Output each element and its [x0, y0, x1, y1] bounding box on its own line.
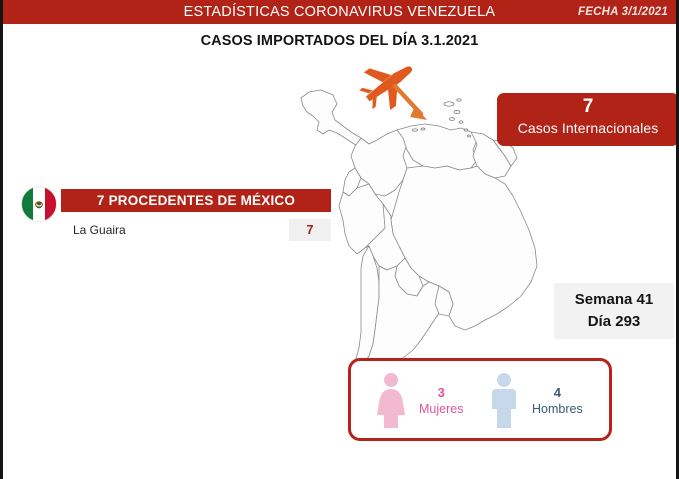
row-case-count: 7 — [289, 219, 331, 241]
week-label: Semana 41 — [554, 289, 674, 311]
mexico-flag-icon — [21, 186, 57, 222]
gender-breakdown-box: 3 Mujeres 4 Hombres — [348, 358, 612, 441]
male-count: 4 — [532, 384, 583, 401]
international-cases-box: 7 Casos Internacionales — [497, 93, 679, 146]
page-title: ESTADÍSTICAS CORONAVIRUS VENEZUELA — [3, 0, 676, 24]
period-box: Semana 41 Día 293 — [554, 283, 674, 339]
header-date: FECHA 3/1/2021 — [578, 0, 668, 24]
subtitle: CASOS IMPORTADOS DEL DÍA 3.1.2021 — [3, 33, 676, 49]
female-label: Mujeres — [419, 401, 463, 418]
origin-country-bar: 7 PROCEDENTES DE MÉXICO — [61, 189, 331, 212]
female-icon — [373, 372, 409, 430]
female-count: 3 — [419, 384, 463, 401]
table-row: La Guaira 7 — [61, 219, 331, 241]
gender-male-group: 4 Hombres — [486, 365, 583, 437]
international-cases-label: Casos Internacionales — [497, 118, 679, 138]
day-label: Día 293 — [554, 311, 674, 333]
international-cases-count: 7 — [497, 95, 679, 118]
gender-female-group: 3 Mujeres — [373, 365, 463, 437]
header-bar: ESTADÍSTICAS CORONAVIRUS VENEZUELA FECHA… — [3, 0, 676, 24]
row-state-name: La Guaira — [61, 219, 289, 241]
male-icon — [486, 372, 522, 430]
male-label: Hombres — [532, 401, 583, 418]
infographic-slide: ESTADÍSTICAS CORONAVIRUS VENEZUELA FECHA… — [0, 0, 679, 479]
